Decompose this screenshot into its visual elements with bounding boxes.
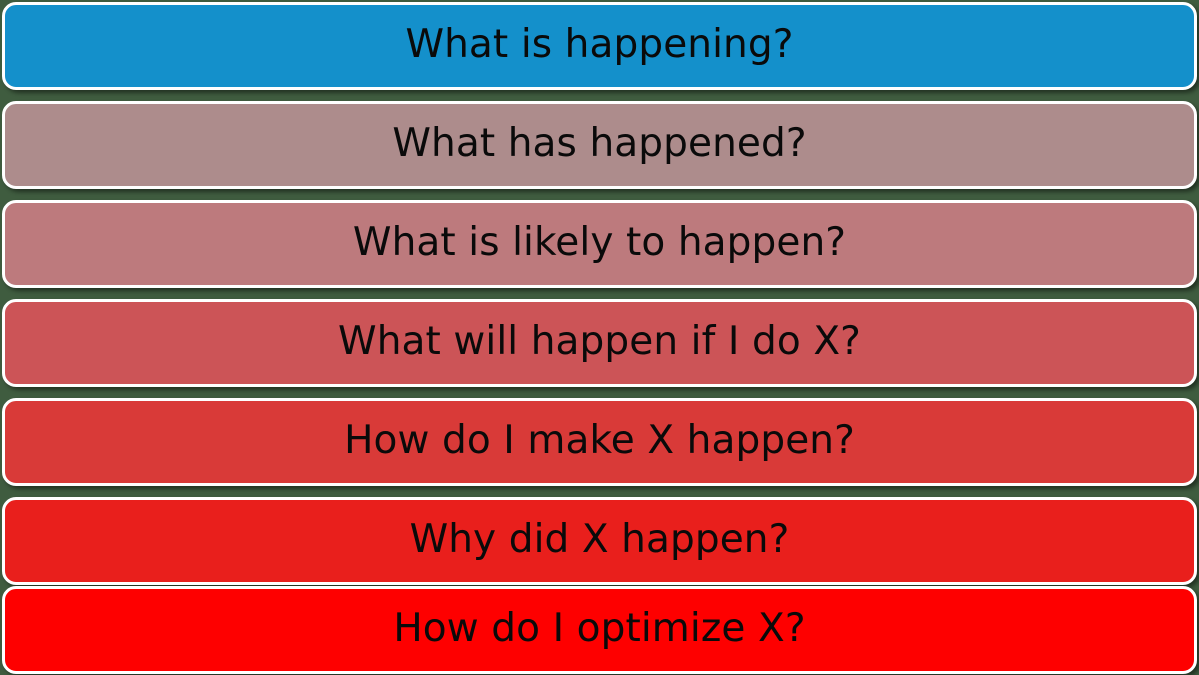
ladder-bar-label: Why did X happen?	[410, 520, 790, 562]
ladder-bar-what-is-likely-to-happen: What is likely to happen?	[2, 200, 1197, 288]
ladder-bar-label: What has happened?	[392, 124, 806, 166]
ladder-bar-label: How do I make X happen?	[344, 421, 855, 463]
ladder-bar-label: How do I optimize X?	[393, 609, 805, 651]
ladder-bar-why-did-x-happen: Why did X happen?	[2, 497, 1197, 585]
ladder-bar-what-has-happened: What has happened?	[2, 101, 1197, 189]
ladder-bar-label: What is happening?	[405, 25, 793, 67]
ladder-bar-what-is-happening: What is happening?	[2, 2, 1197, 90]
ladder-bar-what-will-happen-if-i-do-x: What will happen if I do X?	[2, 299, 1197, 387]
maturity-ladder-diagram: What is happening? What has happened? Wh…	[0, 0, 1199, 675]
ladder-bar-how-do-i-make-x-happen: How do I make X happen?	[2, 398, 1197, 486]
ladder-bar-how-do-i-optimize-x: How do I optimize X?	[2, 586, 1197, 674]
ladder-bar-label: What is likely to happen?	[353, 223, 846, 265]
ladder-bar-label: What will happen if I do X?	[338, 322, 861, 364]
